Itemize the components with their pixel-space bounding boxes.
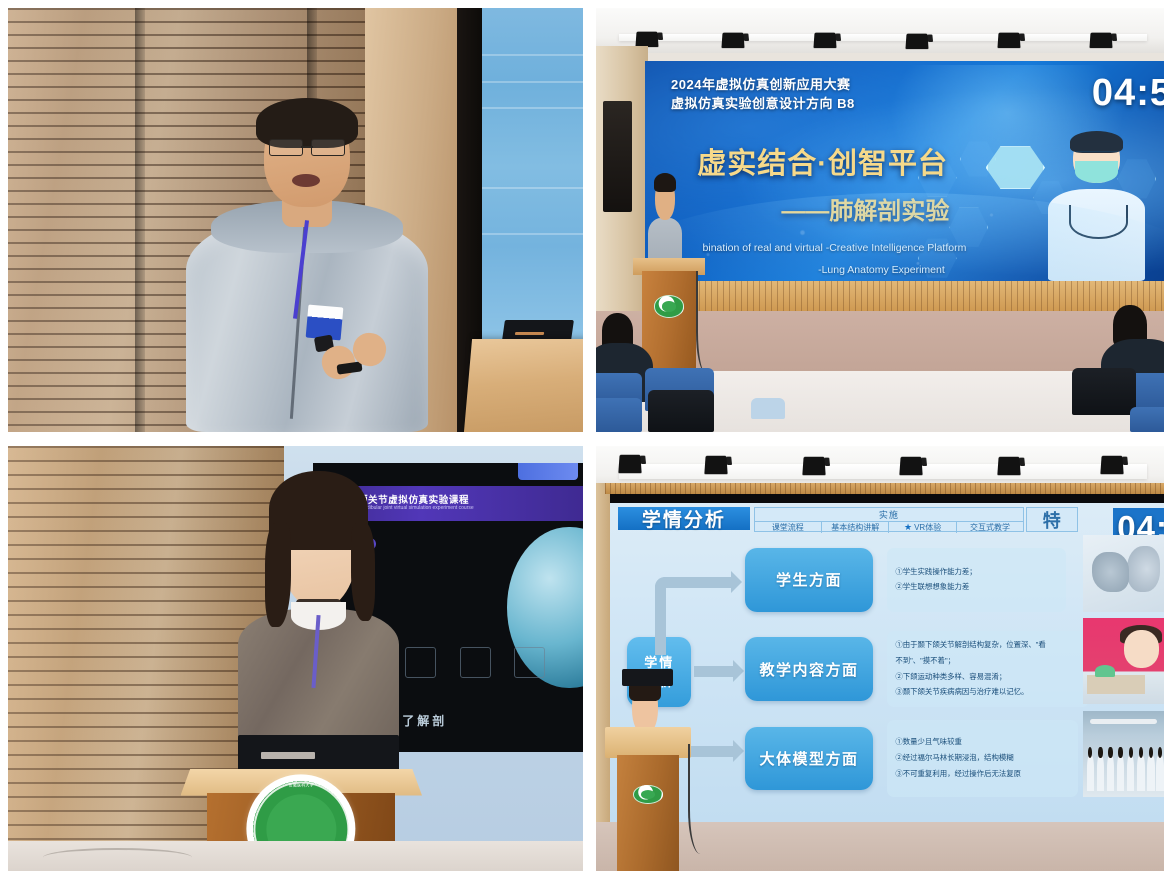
- ceiling-spotlight-icon: [704, 456, 728, 474]
- nav-item-label: 基本结构讲解: [831, 522, 879, 533]
- detail-line: ①学生实践操作能力差；: [895, 567, 1058, 578]
- ceiling: [596, 8, 1164, 53]
- ceiling-spotlight-icon: [900, 457, 924, 475]
- slide-nav-bar: 实施 课堂流程 基本结构讲解 ★ VR体验 交互式教学: [754, 507, 1025, 532]
- photo-collage: 2024年虚拟仿真创新应用大赛 虚拟仿真实验创意设计方向 B8 虚实结合·创智平…: [0, 0, 1164, 873]
- slide-next-section[interactable]: 特: [1026, 507, 1078, 532]
- male-presenter: [181, 101, 434, 432]
- detail-line: ②学生联想想象能力差: [895, 582, 1058, 593]
- cartoon-lamp: [1095, 665, 1115, 677]
- seat-tablet: [751, 398, 785, 419]
- ceiling-spotlight-icon: [905, 34, 929, 50]
- slide-next-section-text: 特: [1043, 507, 1061, 533]
- auditorium-chair: [596, 398, 642, 432]
- ceiling-spotlight-icon: [1089, 33, 1113, 49]
- lab-ceiling-light: [1090, 719, 1157, 724]
- doctor-hair: [1070, 131, 1123, 153]
- podium: [605, 727, 691, 872]
- screen-bezel: [610, 494, 1164, 504]
- detail-line: ①由于颞下颌关节解剖结构复杂，位置深、"看: [895, 640, 1080, 651]
- hair-side: [265, 523, 291, 627]
- lectern: [464, 339, 583, 432]
- flow-node-label: 学生方面: [776, 569, 842, 590]
- flow-node-gross-model: 大体模型方面: [745, 727, 874, 791]
- slide-header-line2: 虚拟仿真实验创意设计方向 B8: [671, 95, 855, 114]
- led-wall-title-slide: 2024年虚拟仿真创新应用大赛 虚拟仿真实验创意设计方向 B8 虚实结合·创智平…: [645, 61, 1164, 281]
- flow-node-teaching-content: 教学内容方面: [745, 637, 874, 701]
- cartoon-desk: [1087, 675, 1146, 694]
- slide-photo-students-lab: [1083, 711, 1164, 797]
- slide-english-line2: -Lung Anatomy Experiment: [818, 264, 945, 276]
- flow-node-label: 教学内容方面: [760, 659, 859, 680]
- wall-speaker: [603, 101, 632, 211]
- nav-item-interactive-teaching[interactable]: 交互式教学: [957, 522, 1023, 533]
- slide-header: 2024年虚拟仿真创新应用大赛 虚拟仿真实验创意设计方向 B8: [671, 76, 855, 114]
- stethoscope-icon: [1069, 205, 1128, 239]
- auditorium-chair: [648, 390, 714, 432]
- laptop: [622, 669, 674, 686]
- nav-item-label: 交互式教学: [970, 522, 1010, 533]
- flow-node-students: 学生方面: [745, 548, 874, 612]
- star-icon: ★: [904, 522, 912, 533]
- flow-detail-teaching-content: ①由于颞下颌关节解剖结构复杂，位置深、"看 不到"、"摸不着"； ②下颌运动种类…: [887, 631, 1088, 708]
- hex-tooth-icon: [949, 207, 988, 249]
- hair-side: [351, 523, 375, 621]
- ceiling-spotlight-icon: [636, 32, 660, 48]
- photo-panel-bottom-right: 学情分析 实施 课堂流程 基本结构讲解 ★ VR体验 交互式教: [596, 446, 1164, 871]
- doctor-illustration: [1039, 123, 1155, 282]
- ceiling-spotlight-icon: [722, 33, 746, 49]
- podium-top: [605, 727, 691, 759]
- slide-photo-cartoon-classroom: [1083, 618, 1164, 704]
- podium-cable: [696, 271, 721, 373]
- flow-detail-gross-model: ①数量少且气味较重 ②经过福尔马林长期浸泡，结构模糊 ③不可重复利用，经过操作后…: [887, 720, 1077, 797]
- photo-panel-top-left: [8, 8, 583, 432]
- lab-coat: [1048, 189, 1145, 281]
- podium-column: [617, 755, 679, 871]
- nav-item-basic-structure[interactable]: 基本结构讲解: [822, 522, 889, 533]
- stage-wood-trim: [645, 281, 1164, 311]
- slide-main-title: 虚实结合·创智平台: [697, 140, 948, 182]
- slide-section-title: 学情分析: [618, 507, 750, 530]
- nav-item-vr-experience[interactable]: ★ VR体验: [889, 522, 956, 533]
- ceiling-light-strip: [619, 34, 1147, 41]
- module-icon[interactable]: [405, 647, 436, 678]
- ceiling-spotlight-icon: [814, 33, 838, 49]
- detail-line: ③颞下颌关节疾病病因与治疗难以记忆。: [895, 687, 1080, 698]
- module-icon[interactable]: [460, 647, 491, 678]
- detail-line: ②经过福尔马林长期浸泡，结构模糊: [895, 753, 1069, 764]
- wall-seam: [135, 8, 145, 432]
- cartoon-face: [1124, 630, 1159, 668]
- ceiling-spotlight-icon: [997, 457, 1021, 475]
- slide-section-title-text: 学情分析: [642, 505, 726, 532]
- countdown-timer: 04:5: [1092, 72, 1164, 115]
- ceiling-light-strip: [619, 464, 1147, 479]
- auditorium-chair: [1072, 368, 1135, 415]
- ceiling-spotlight-icon: [802, 457, 826, 475]
- photo-panel-top-right: 2024年虚拟仿真创新应用大赛 虚拟仿真实验创意设计方向 B8 虚实结合·创智平…: [596, 8, 1164, 432]
- screen-top-widget: [518, 463, 577, 480]
- flow-arrow: [686, 577, 731, 588]
- detail-line: 不到"、"摸不着"；: [895, 656, 1080, 667]
- flow-connector-elbow: [655, 577, 705, 655]
- projection-screen: [482, 8, 583, 339]
- photo-panel-bottom-left: 颞下颌关节虚拟仿真实验课程 Temporomandibular joint vi…: [8, 446, 583, 871]
- slide-header-line1: 2024年虚拟仿真创新应用大赛: [671, 76, 855, 95]
- podium-cable: [688, 744, 719, 855]
- ceiling-spotlight-icon: [618, 455, 642, 473]
- detail-line: ①数量少且气味较重: [895, 737, 1069, 748]
- mouth: [292, 174, 320, 187]
- hex-ear-icon: [918, 237, 957, 279]
- module-icon[interactable]: [514, 647, 545, 678]
- eyeglasses-icon: [269, 139, 345, 154]
- flow-arrow: [694, 666, 733, 677]
- auditorium-chair: [1130, 407, 1164, 432]
- flow-node-label: 大体模型方面: [760, 748, 859, 769]
- floor-cable: [43, 848, 193, 867]
- nav-group-label: 实施: [755, 508, 1024, 522]
- presenter-hair: [654, 173, 676, 192]
- nav-item-label: 课堂流程: [772, 522, 804, 533]
- slide-photo-anatomy-diagram: [1083, 535, 1164, 612]
- university-emblem: [633, 785, 663, 803]
- nav-item-label: VR体验: [914, 522, 941, 533]
- university-emblem: [654, 295, 685, 317]
- slide-english-line1: bination of real and virtual -Creative I…: [703, 242, 967, 254]
- detail-line: ②下颌运动种类多样、容易混淆；: [895, 672, 1080, 683]
- emblem-text-cn: 安徽医科大学: [289, 782, 314, 788]
- slide-sub-title: ——肺解剖实验: [781, 191, 949, 226]
- detail-line: ③不可重复利用，经过操作后无法复原: [895, 769, 1069, 780]
- face-mask-icon: [1075, 161, 1119, 183]
- ceiling-spotlight-icon: [1100, 456, 1124, 474]
- flow-detail-students: ①学生实践操作能力差； ②学生联想想象能力差: [887, 548, 1066, 612]
- nav-item-classroom-process[interactable]: 课堂流程: [755, 522, 822, 533]
- ceiling-spotlight-icon: [997, 33, 1021, 49]
